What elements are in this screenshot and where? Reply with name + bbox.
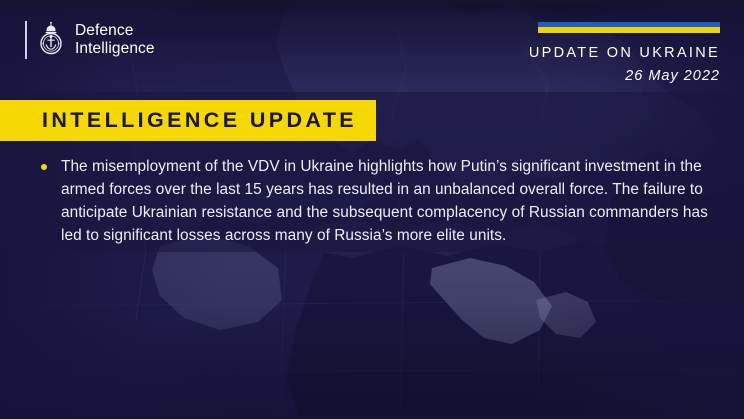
logo-wordmark: Defence Intelligence — [75, 22, 155, 58]
body-paragraph: The misemployment of the VDV in Ukraine … — [61, 155, 723, 247]
update-header-block: UPDATE ON UKRAINE 26 May 2022 — [529, 22, 720, 84]
defence-intelligence-logo: Defence Intelligence — [25, 17, 155, 63]
body-bullet-item: The misemployment of the VDV in Ukraine … — [41, 155, 723, 247]
top-edge-strip — [0, 0, 744, 5]
logo-divider — [25, 21, 27, 59]
intelligence-update-slide: Defence Intelligence UPDATE ON UKRAINE 2… — [0, 0, 744, 419]
logo-line-1: Defence — [75, 22, 155, 40]
flag-yellow-stripe — [538, 27, 720, 33]
logo-line-2: Intelligence — [75, 40, 155, 58]
intelligence-update-banner: INTELLIGENCE UPDATE — [0, 100, 376, 141]
bullet-dot-icon — [41, 164, 47, 170]
royal-crest-icon — [36, 21, 66, 59]
banner-label: INTELLIGENCE UPDATE — [0, 108, 357, 133]
update-title: UPDATE ON UKRAINE — [529, 45, 720, 61]
ukraine-flag-bar — [538, 22, 720, 33]
update-date: 26 May 2022 — [529, 68, 720, 84]
